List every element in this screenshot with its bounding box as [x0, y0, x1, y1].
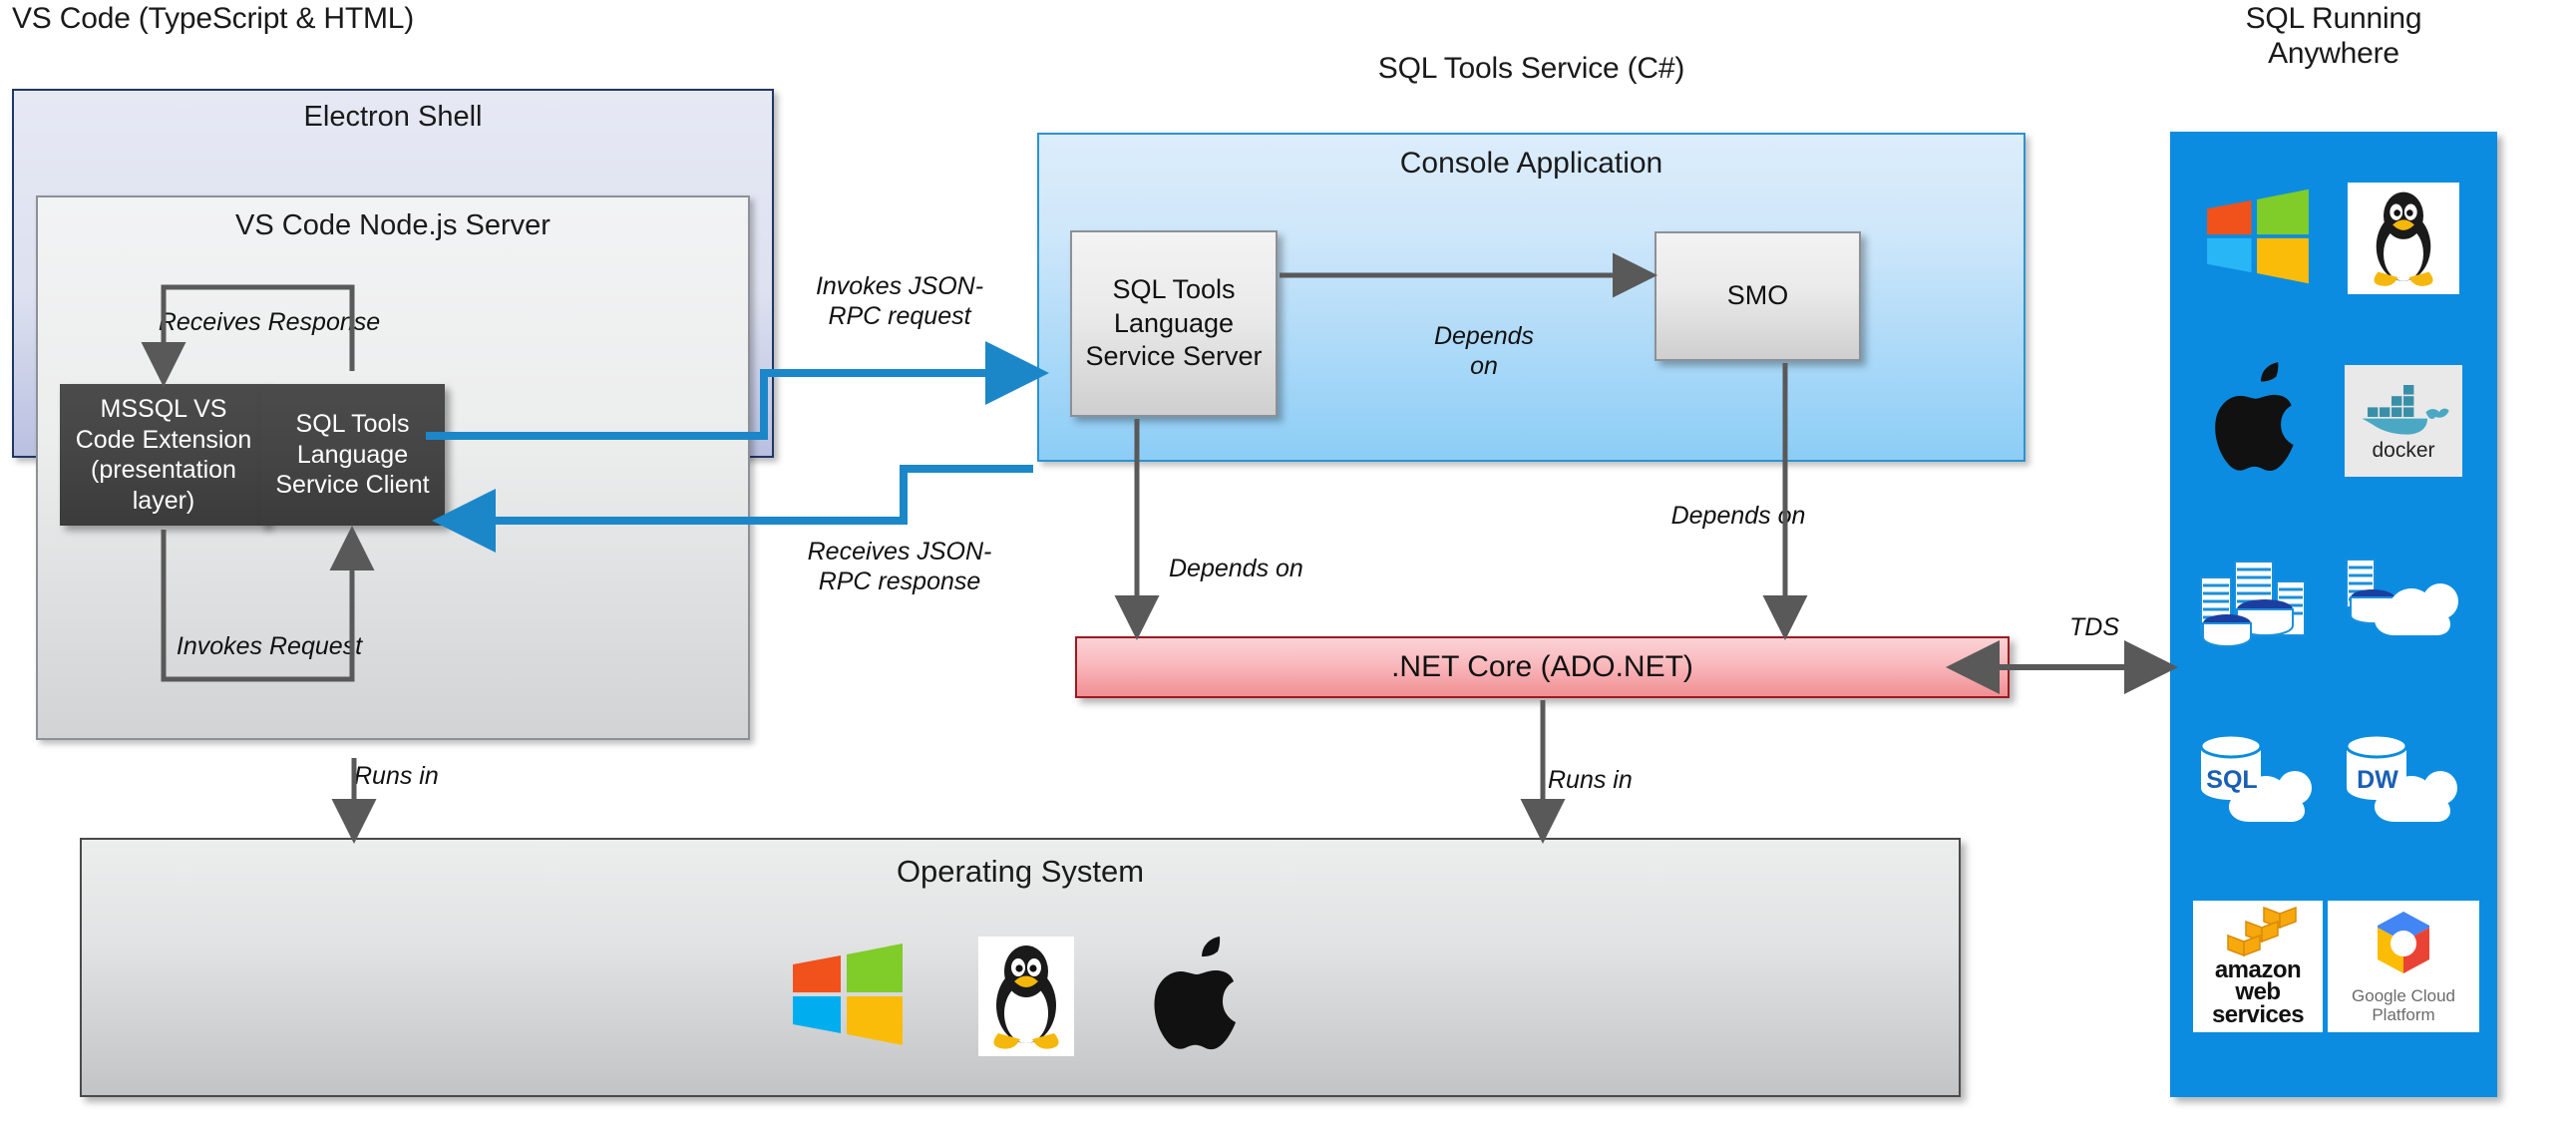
sql-tools-language-service-client-box[interactable]: SQL Tools Language Service Client [260, 384, 445, 526]
aws-label: amazon web services [2193, 959, 2323, 1027]
tile-linux-tux-logo [2348, 183, 2459, 294]
label-lsserver-dotnet-depends-on: Depends on [1169, 554, 1418, 583]
label-service-runs-in: Runs in [1548, 765, 1707, 795]
diagram-canvas: VS Code (TypeScript & HTML) SQL Tools Se… [0, 0, 2576, 1134]
label-smo-depends-on: Depends on [1389, 321, 1579, 381]
tile-apple-logo [2207, 359, 2309, 482]
tile-google-cloud-platform-logo: Google Cloud Platform [2328, 901, 2479, 1032]
caption-vs-code: VS Code (TypeScript & HTML) [12, 2, 710, 37]
sql-running-anywhere-panel: docker [2170, 132, 2497, 1097]
tile-sql-server-cloud-icon [2337, 548, 2470, 656]
label-receives-json-rpc-response: Receives JSON- RPC response [785, 537, 1014, 596]
mssql-vs-code-extension-box[interactable]: MSSQL VS Code Extension (presentation la… [60, 384, 267, 526]
sql-running-anywhere-tile-grid: docker [2170, 132, 2497, 1097]
windows-logo [789, 941, 907, 1053]
label-smo-dotnet-depends-on: Depends on [1614, 501, 1863, 531]
label-vscode-runs-in: Runs in [354, 761, 514, 791]
tile-azure-sql-data-warehouse-icon: DW [2337, 730, 2470, 839]
azure-sql-dw-label: DW [2345, 766, 2410, 795]
console-application-title: Console Application [1039, 147, 2024, 181]
tile-windows-logo [2202, 187, 2314, 291]
dotnet-core-ado-net-box[interactable]: .NET Core (ADO.NET) [1075, 636, 2010, 698]
operating-system-title: Operating System [82, 854, 1959, 890]
tile-sql-server-datacenter-icon [2193, 548, 2323, 656]
caption-sql-tools-service: SQL Tools Service (C#) [1037, 52, 2025, 87]
tile-amazon-web-services-logo: amazon web services [2193, 901, 2323, 1032]
tile-azure-sql-database-icon: SQL [2191, 730, 2325, 839]
linux-tux-logo [978, 937, 1074, 1056]
vs-code-nodejs-server-title: VS Code Node.js Server [38, 209, 748, 242]
operating-system-logos [82, 922, 1959, 1071]
label-receives-response: Receives Response [140, 307, 399, 337]
label-invokes-request: Invokes Request [140, 631, 399, 661]
apple-logo [1146, 934, 1252, 1060]
caption-sql-running-anywhere: SQL Running Anywhere [2170, 2, 2497, 71]
smo-box[interactable]: SMO [1655, 231, 1861, 361]
electron-shell-title: Electron Shell [14, 101, 772, 134]
label-tds: TDS [2039, 612, 2149, 642]
operating-system-panel: Operating System [80, 838, 1961, 1097]
tile-docker-logo: docker [2345, 365, 2462, 477]
gcp-label: Google Cloud Platform [2328, 987, 2479, 1024]
label-invokes-json-rpc-request: Invokes JSON- RPC request [785, 271, 1014, 331]
azure-sql-db-label: SQL [2201, 766, 2263, 795]
docker-label: docker [2372, 440, 2434, 461]
sql-tools-language-service-server-box[interactable]: SQL Tools Language Service Server [1070, 230, 1278, 417]
